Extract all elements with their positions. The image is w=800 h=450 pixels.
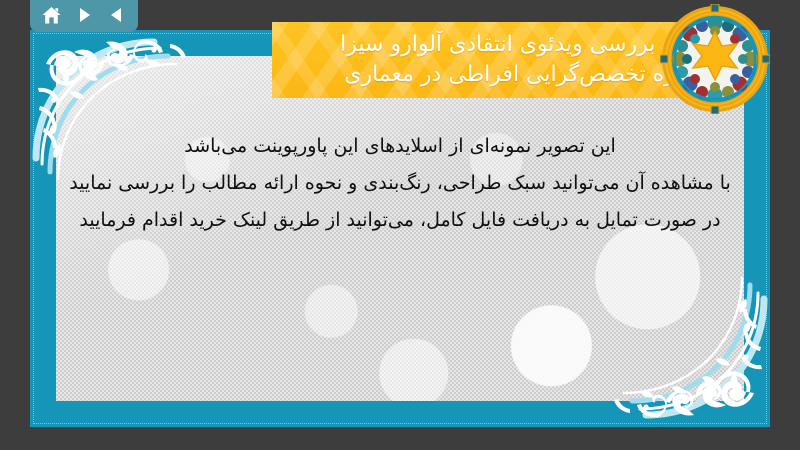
slide-viewer: کامل بررسی ویدئوی انتقادی آلوارو سیزا در… [0, 0, 800, 450]
back-button[interactable] [105, 3, 129, 27]
slide-body-text: این تصویر نمونه‌ای از اسلایدهای این پاور… [60, 128, 740, 239]
triangle-right-icon [74, 5, 94, 25]
triangle-left-icon [107, 5, 127, 25]
navigation-toolbar [30, 0, 138, 32]
home-button[interactable] [39, 3, 63, 27]
body-line-3: در صورت تمایل به دریافت فایل کامل، می‌تو… [60, 202, 740, 239]
mandala-medallion [660, 4, 770, 114]
body-line-1: این تصویر نمونه‌ای از اسلایدهای این پاور… [60, 128, 740, 165]
body-line-2: با مشاهده آن می‌توانید سبک طراحی، رنگ‌بن… [60, 165, 740, 202]
slide-title-line-1: کامل بررسی ویدئوی انتقادی آلوارو سیزا [368, 30, 708, 60]
home-icon [41, 5, 62, 26]
slide-title-line-2: درباره تخصص‌گرایی افراطی در معماری [368, 60, 708, 90]
forward-button[interactable] [72, 3, 96, 27]
